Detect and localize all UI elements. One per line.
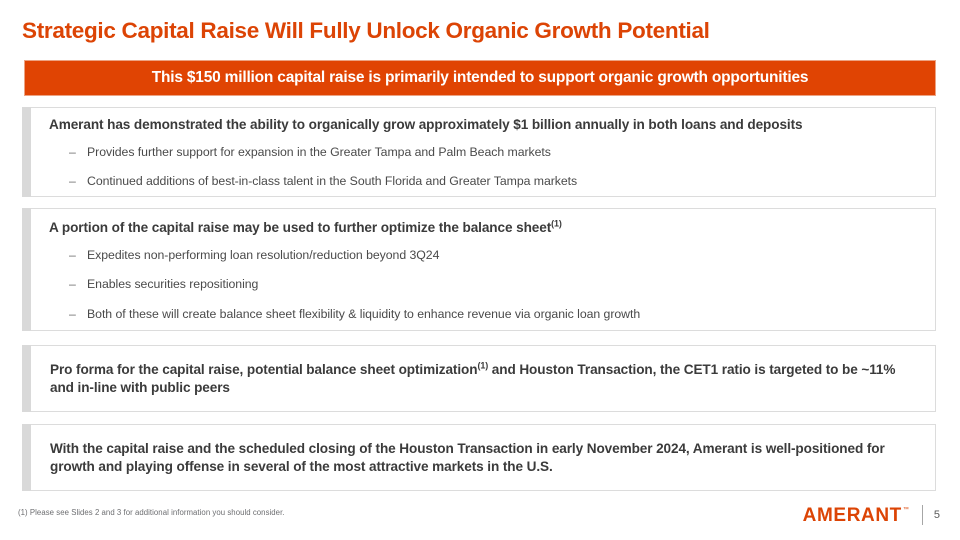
content-box-3-body: Pro forma for the capital raise, potenti…: [31, 345, 936, 412]
list-item: – Provides further support for expansion…: [45, 145, 921, 160]
content-box-1: Amerant has demonstrated the ability to …: [22, 107, 936, 197]
content-box-2-heading: A portion of the capital raise may be us…: [45, 217, 921, 237]
content-box-2-bullets: – Expedites non-performing loan resoluti…: [45, 248, 921, 322]
content-box-3-heading: Pro forma for the capital raise, potenti…: [45, 361, 921, 397]
footnote-text: (1) Please see Slides 2 and 3 for additi…: [18, 508, 285, 517]
amerant-logo: AMERANT ™: [803, 506, 909, 525]
list-item: – Continued additions of best-in-class t…: [45, 174, 921, 189]
content-box-4-heading: With the capital raise and the scheduled…: [45, 440, 921, 476]
content-box-1-heading: Amerant has demonstrated the ability to …: [45, 114, 921, 134]
list-item: – Expedites non-performing loan resoluti…: [45, 248, 921, 263]
box-accent-bar: [22, 424, 31, 491]
list-item-label: Enables securities repositioning: [87, 277, 921, 292]
slide-root: Strategic Capital Raise Will Fully Unloc…: [0, 0, 960, 540]
box-accent-bar: [22, 345, 31, 412]
content-box-2-body: A portion of the capital raise may be us…: [31, 208, 936, 331]
page-title: Strategic Capital Raise Will Fully Unloc…: [22, 18, 922, 44]
amerant-logo-text: AMERANT: [803, 506, 902, 525]
box-accent-bar: [22, 107, 31, 197]
dash-bullet-icon: –: [69, 174, 87, 189]
dash-bullet-icon: –: [69, 248, 87, 263]
headline-banner: This $150 million capital raise is prima…: [24, 60, 936, 96]
list-item-label: Both of these will create balance sheet …: [87, 307, 921, 322]
footer-divider: [922, 505, 923, 525]
footnote-marker: (1): [477, 360, 488, 370]
dash-bullet-icon: –: [69, 307, 87, 322]
list-item-label: Expedites non-performing loan resolution…: [87, 248, 921, 263]
list-item: – Enables securities repositioning: [45, 277, 921, 292]
box-accent-bar: [22, 208, 31, 331]
content-box-1-bullets: – Provides further support for expansion…: [45, 145, 921, 190]
list-item-label: Provides further support for expansion i…: [87, 145, 921, 160]
content-box-2: A portion of the capital raise may be us…: [22, 208, 936, 331]
content-box-1-body: Amerant has demonstrated the ability to …: [31, 107, 936, 197]
dash-bullet-icon: –: [69, 277, 87, 292]
trademark-icon: ™: [903, 507, 909, 513]
footer-brand: AMERANT ™ 5: [803, 503, 940, 527]
dash-bullet-icon: –: [69, 145, 87, 160]
list-item-label: Continued additions of best-in-class tal…: [87, 174, 921, 189]
content-box-2-heading-text: A portion of the capital raise may be us…: [49, 220, 551, 235]
content-box-4: With the capital raise and the scheduled…: [22, 424, 936, 491]
page-number: 5: [934, 510, 940, 521]
footnote-marker: (1): [551, 218, 562, 228]
content-box-3: Pro forma for the capital raise, potenti…: [22, 345, 936, 412]
list-item: – Both of these will create balance shee…: [45, 307, 921, 322]
content-box-4-body: With the capital raise and the scheduled…: [31, 424, 936, 491]
headline-banner-text: This $150 million capital raise is prima…: [152, 69, 809, 87]
content-box-3-heading-part1: Pro forma for the capital raise, potenti…: [50, 362, 477, 377]
